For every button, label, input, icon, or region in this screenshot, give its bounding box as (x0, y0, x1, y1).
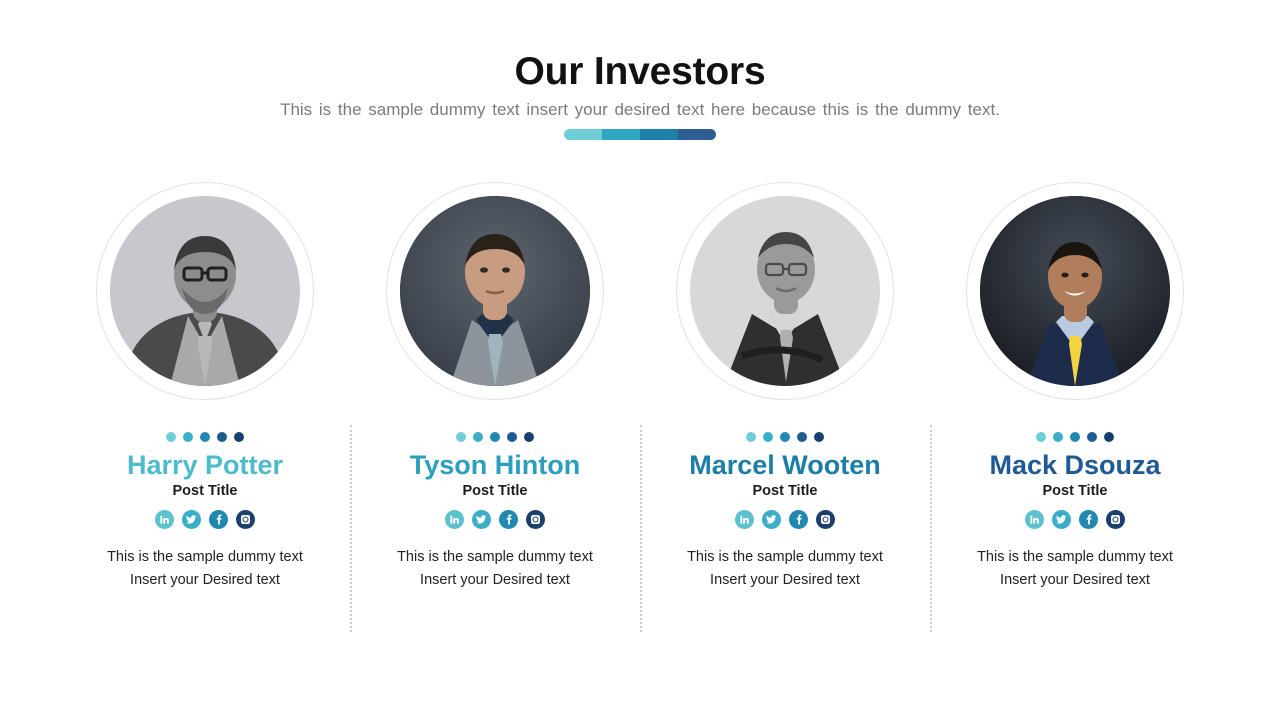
avatar-ring (966, 182, 1184, 400)
facebook-icon[interactable] (789, 510, 808, 529)
avatar-ring (676, 182, 894, 400)
footer: Finance and INVESTMENT Presentation 14 (0, 648, 1280, 720)
dot-4 (507, 432, 517, 442)
dot-4 (797, 432, 807, 442)
rating-dots (456, 432, 534, 442)
twitter-icon[interactable] (472, 510, 491, 529)
dot-4 (1087, 432, 1097, 442)
linkedin-icon[interactable] (735, 510, 754, 529)
social-links[interactable] (155, 510, 255, 529)
investor-blurb: This is the sample dummy text Insert you… (678, 546, 893, 591)
instagram-icon[interactable] (816, 510, 835, 529)
linkedin-icon[interactable] (155, 510, 174, 529)
social-links[interactable] (445, 510, 545, 529)
twitter-icon[interactable] (1052, 510, 1071, 529)
slide: Our Investors This is the sample dummy t… (0, 0, 1280, 720)
avatar (980, 196, 1170, 386)
linkedin-icon[interactable] (1025, 510, 1044, 529)
dot-5 (524, 432, 534, 442)
accent-bar-segment-3 (640, 129, 678, 140)
investor-post-title: Post Title (753, 483, 818, 499)
dot-1 (746, 432, 756, 442)
dot-3 (490, 432, 500, 442)
rating-dots (166, 432, 244, 442)
social-links[interactable] (1025, 510, 1125, 529)
investor-post-title: Post Title (173, 483, 238, 499)
page-title: Our Investors (0, 50, 1280, 94)
portrait-illustration (110, 196, 300, 386)
investor-blurb: This is the sample dummy text Insert you… (388, 546, 603, 591)
instagram-icon[interactable] (1106, 510, 1125, 529)
accent-bar (564, 129, 716, 140)
twitter-icon[interactable] (182, 510, 201, 529)
avatar-ring (386, 182, 604, 400)
investor-name: Harry Potter (127, 451, 283, 479)
dot-5 (234, 432, 244, 442)
linkedin-icon[interactable] (445, 510, 464, 529)
investor-post-title: Post Title (1043, 483, 1108, 499)
investor-cards: Harry Potter Post Title This is the samp… (60, 180, 1220, 640)
dot-4 (217, 432, 227, 442)
avatar-ring (96, 182, 314, 400)
instagram-icon[interactable] (526, 510, 545, 529)
investor-card[interactable]: Tyson Hinton Post Title This is the samp… (350, 180, 640, 640)
facebook-icon[interactable] (499, 510, 518, 529)
dot-1 (166, 432, 176, 442)
dot-2 (1053, 432, 1063, 442)
accent-bar-segment-1 (564, 129, 602, 140)
twitter-icon[interactable] (762, 510, 781, 529)
avatar (110, 196, 300, 386)
page-subtitle: This is the sample dummy text insert you… (0, 100, 1280, 120)
social-links[interactable] (735, 510, 835, 529)
facebook-icon[interactable] (209, 510, 228, 529)
accent-bar-segment-2 (602, 129, 640, 140)
portrait-illustration (690, 196, 880, 386)
avatar (690, 196, 880, 386)
rating-dots (1036, 432, 1114, 442)
instagram-icon[interactable] (236, 510, 255, 529)
dot-5 (1104, 432, 1114, 442)
dot-1 (456, 432, 466, 442)
investor-post-title: Post Title (463, 483, 528, 499)
dot-2 (183, 432, 193, 442)
dot-1 (1036, 432, 1046, 442)
investor-name: Mack Dsouza (989, 451, 1160, 479)
dot-2 (763, 432, 773, 442)
investor-blurb: This is the sample dummy text Insert you… (968, 546, 1183, 591)
investor-card[interactable]: Marcel Wooten Post Title This is the sam… (640, 180, 930, 640)
dot-3 (780, 432, 790, 442)
portrait-illustration (400, 196, 590, 386)
investor-card[interactable]: Mack Dsouza Post Title This is the sampl… (930, 180, 1220, 640)
investor-name: Tyson Hinton (410, 451, 580, 479)
rating-dots (746, 432, 824, 442)
investor-name: Marcel Wooten (689, 451, 881, 479)
investor-blurb: This is the sample dummy text Insert you… (98, 546, 313, 591)
investor-card[interactable]: Harry Potter Post Title This is the samp… (60, 180, 350, 640)
dot-5 (814, 432, 824, 442)
dot-3 (200, 432, 210, 442)
portrait-illustration (980, 196, 1170, 386)
dot-2 (473, 432, 483, 442)
avatar (400, 196, 590, 386)
dot-3 (1070, 432, 1080, 442)
accent-bar-segment-4 (678, 129, 716, 140)
facebook-icon[interactable] (1079, 510, 1098, 529)
